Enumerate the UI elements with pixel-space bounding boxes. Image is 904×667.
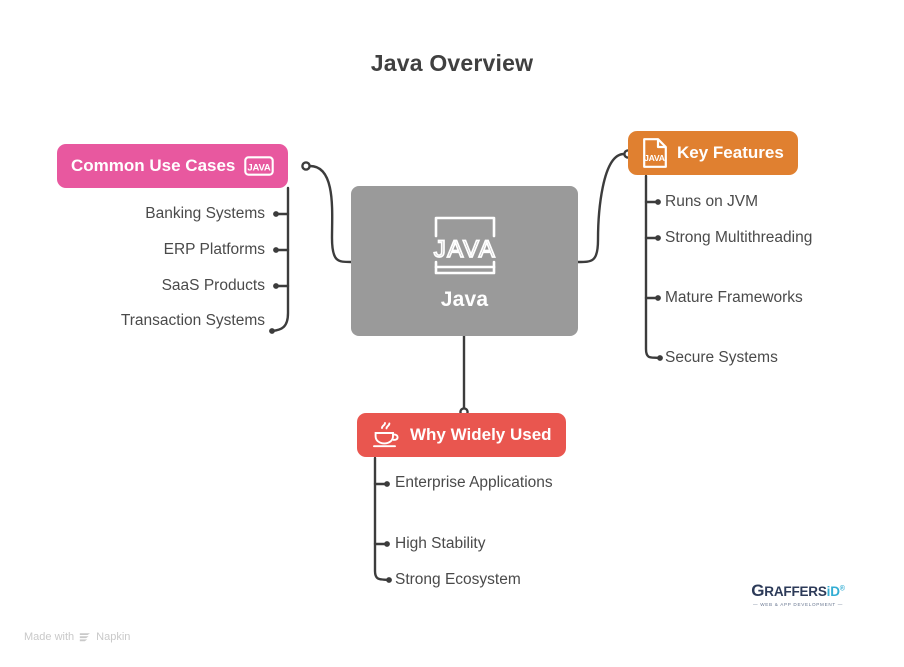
leaf-item-secure-systems: Secure Systems <box>665 348 855 367</box>
center-node-label: Java <box>441 288 489 312</box>
svg-text:JAVA: JAVA <box>644 153 665 163</box>
leaf-item-erp-platforms: ERP Platforms <box>60 240 265 259</box>
graffersid-watermark: GRAFFERSiD® — WEB & APP DEVELOPMENT — <box>748 582 848 607</box>
graffersid-raffers: RAFFERS <box>764 584 826 599</box>
page-title: Java Overview <box>0 50 904 77</box>
leaf-item-strong-ecosystem: Strong Ecosystem <box>395 570 595 589</box>
graffersid-logo-text: GRAFFERSiD® <box>748 582 848 599</box>
java-document-icon: JAVA <box>642 137 668 169</box>
leaf-item-enterprise-applications: Enterprise Applications <box>395 473 585 492</box>
leaf-item-mature-frameworks: Mature Frameworks <box>665 288 845 307</box>
napkin-watermark-prefix: Made with <box>24 631 74 643</box>
napkin-logo-icon <box>79 632 91 643</box>
center-node-java[interactable]: JAVA Java <box>351 186 578 336</box>
leaf-item-high-stability: High Stability <box>395 534 585 553</box>
branch-badge-key-features[interactable]: JAVA Key Features <box>628 131 798 175</box>
java-bracket-logo-icon: JAVA <box>428 210 502 282</box>
leaf-item-strong-multithreading: Strong Multithreading <box>665 228 845 247</box>
napkin-watermark-name: Napkin <box>96 631 130 643</box>
graffersid-tagline: — WEB & APP DEVELOPMENT — <box>748 602 848 607</box>
leaf-item-runs-on-jvm: Runs on JVM <box>665 192 855 211</box>
svg-text:JAVA: JAVA <box>248 162 271 173</box>
leaf-item-banking-systems: Banking Systems <box>60 204 265 223</box>
leaf-item-transaction-systems: Transaction Systems <box>60 311 265 330</box>
branch-badge-why-widely-used[interactable]: Why Widely Used <box>357 413 566 457</box>
branch-label-key-features: Key Features <box>677 143 784 163</box>
branch-label-common-use-cases: Common Use Cases <box>71 156 235 176</box>
graffersid-trademark: ® <box>840 586 845 593</box>
branch-badge-common-use-cases[interactable]: Common Use Cases JAVA <box>57 144 288 188</box>
graffersid-g: G <box>751 581 764 600</box>
diagram-canvas: Java Overview <box>0 0 904 667</box>
leaf-item-saas-products: SaaS Products <box>60 276 265 295</box>
java-coffee-cup-icon <box>371 420 401 450</box>
svg-text:JAVA: JAVA <box>433 236 495 263</box>
napkin-watermark: Made with Napkin <box>24 631 130 643</box>
java-badge-icon: JAVA <box>244 156 274 176</box>
graffersid-id: iD <box>827 584 840 599</box>
branch-label-why-widely-used: Why Widely Used <box>410 425 552 445</box>
